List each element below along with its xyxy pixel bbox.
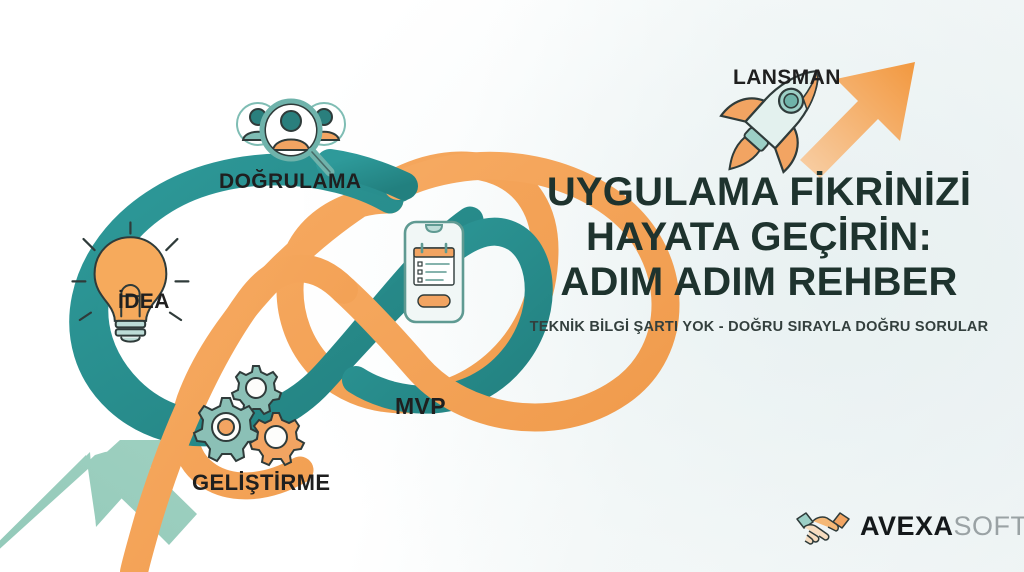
brand-logo: AVEXASOFT	[795, 505, 1024, 547]
brand-name-bold: AVEXA	[860, 511, 954, 541]
stage-label-idea: İDEA	[118, 290, 170, 314]
stage-label-mvp: MVP	[395, 393, 446, 420]
brand-wordmark: AVEXASOFT	[860, 513, 1024, 540]
headline-subtitle: TEKNİK BİLGİ ŞARTI YOK - DOĞRU SIRAYLA D…	[524, 319, 994, 335]
brand-name-light: SOFT	[954, 511, 1024, 541]
headline-line-3: ADIM ADIM REHBER	[524, 260, 994, 305]
stage-label-dogrulama: DOĞRULAMA	[219, 170, 361, 194]
headline-line-2: HAYATA GEÇİRİN:	[524, 215, 994, 260]
stage-label-lansman: LANSMAN	[733, 66, 841, 90]
handshake-icon	[795, 505, 851, 547]
poster-canvas: İDEA DOĞRULAMA MVP GELİŞTİRME LANSMAN UY…	[0, 0, 1024, 572]
headline-line-1: UYGULAMA FİKRİNİZİ	[524, 170, 994, 215]
stage-label-gelistirme: GELİŞTİRME	[192, 470, 330, 496]
headline-block: UYGULAMA FİKRİNİZİ HAYATA GEÇİRİN: ADIM …	[524, 170, 994, 335]
